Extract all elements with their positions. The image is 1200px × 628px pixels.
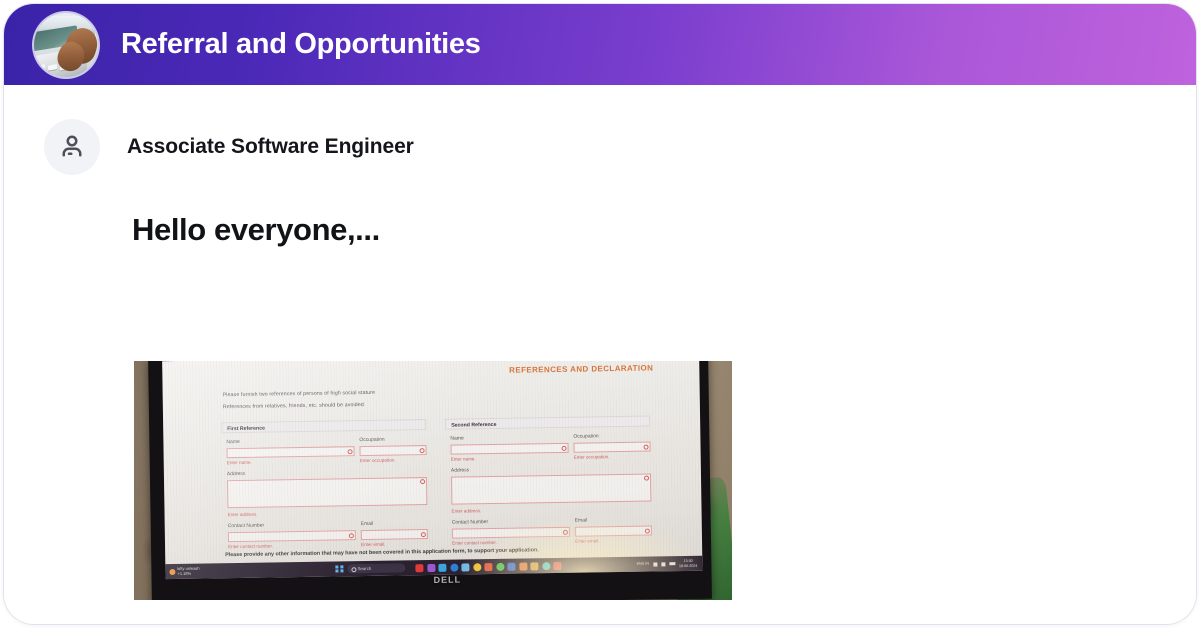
input-occupation-1[interactable]	[359, 445, 426, 456]
label-email-1: Email	[361, 521, 374, 527]
input-name-1[interactable]	[227, 446, 355, 458]
error-icon	[644, 476, 649, 481]
label-address-1: Address	[227, 471, 245, 477]
taskbar-app-icons[interactable]	[415, 561, 561, 571]
monitor-brand-logo: DELL	[434, 575, 462, 585]
error-address-2: Enter address.	[451, 508, 481, 513]
error-icon	[645, 528, 650, 533]
label-name-1: Name	[226, 439, 239, 445]
post-title: Hello everyone,...	[4, 212, 1196, 248]
app-icon[interactable]	[553, 561, 561, 569]
post-image[interactable]: REFERENCES AND DECLARATION Please furnis…	[134, 361, 732, 600]
form-heading: REFERENCES AND DECLARATION	[509, 363, 653, 374]
app-icon[interactable]	[542, 562, 550, 570]
input-email-1[interactable]	[361, 529, 428, 540]
app-icon[interactable]	[438, 563, 446, 571]
volume-icon	[661, 562, 665, 566]
windows-start-icon[interactable]	[335, 565, 343, 573]
monitor-screen: REFERENCES AND DECLARATION Please furnis…	[162, 361, 702, 579]
input-address-1[interactable]	[227, 477, 427, 508]
card-footer: ★ ◖ ★ 0 fish wl	[4, 620, 1196, 624]
app-icon[interactable]	[519, 562, 527, 570]
battery-icon	[669, 562, 675, 565]
input-address-2[interactable]	[451, 474, 651, 505]
error-icon	[562, 445, 567, 450]
input-name-2[interactable]	[450, 443, 568, 455]
input-occupation-2[interactable]	[573, 442, 650, 453]
error-icon	[348, 449, 353, 454]
form-document: REFERENCES AND DECLARATION Please furnis…	[162, 361, 702, 579]
app-icon[interactable]	[484, 563, 492, 571]
label-email-2: Email	[575, 518, 588, 524]
label-address-2: Address	[451, 467, 469, 473]
card-header: Referral and Opportunities	[4, 4, 1196, 85]
app-icon[interactable]	[507, 562, 515, 570]
author-name: Associate Software Engineer	[127, 135, 414, 159]
label-contact-2: Contact Number	[452, 519, 488, 526]
section-header-first-reference: First Reference	[221, 419, 426, 433]
form-instruction-1: Please furnish two references of persons…	[223, 390, 376, 398]
app-icon[interactable]	[473, 563, 481, 571]
post-card: Referral and Opportunities Associate Sof…	[4, 4, 1196, 624]
label-name-2: Name	[450, 435, 463, 441]
anonymous-person-icon	[57, 132, 87, 162]
group-avatar[interactable]	[34, 13, 98, 77]
error-occupation-1: Enter occupation.	[360, 458, 396, 464]
app-icon[interactable]	[427, 563, 435, 571]
card-body: Associate Software Engineer Hello everyo…	[4, 85, 1196, 624]
error-contact-1: Enter contact number.	[228, 543, 273, 549]
group-avatar-photo	[34, 13, 98, 77]
form-instruction-2: References from relatives, friends, etc.…	[223, 402, 364, 410]
error-email-2: Enter email.	[575, 538, 600, 543]
error-address-1: Enter address.	[228, 512, 258, 517]
error-email-1: Enter email.	[361, 542, 386, 547]
error-icon	[420, 479, 425, 484]
input-contact-2[interactable]	[452, 527, 570, 539]
avatar[interactable]	[44, 119, 100, 175]
clock-date[interactable]: 18-06-2024	[679, 563, 697, 567]
error-icon	[349, 533, 354, 538]
widget-sub: +1.18%	[177, 571, 199, 576]
input-email-2[interactable]	[575, 526, 652, 537]
error-icon	[563, 529, 568, 534]
taskbar-widget[interactable]: kitty unleash +1.18%	[169, 567, 199, 576]
author-row: Associate Software Engineer	[4, 119, 1196, 175]
monitor-bezel: REFERENCES AND DECLARATION Please furnis…	[148, 361, 712, 600]
app-icon[interactable]	[415, 564, 423, 572]
language-indicator[interactable]: ENG IN	[637, 562, 649, 566]
label-occupation-1: Occupation	[359, 437, 384, 443]
section-header-second-reference: Second Reference	[445, 416, 650, 430]
taskbar-system-tray[interactable]: ENG IN 13:30 18-06-2024	[637, 559, 698, 568]
error-icon	[421, 532, 426, 537]
error-icon	[420, 448, 425, 453]
error-contact-2: Enter contact number.	[452, 540, 497, 546]
error-occupation-2: Enter occupation.	[574, 454, 610, 460]
taskbar-search-input[interactable]: Search	[347, 563, 405, 573]
error-name-2: Enter name.	[451, 456, 476, 461]
page-title: Referral and Opportunities	[121, 28, 481, 61]
app-icon[interactable]	[496, 562, 504, 570]
app-icon[interactable]	[450, 563, 458, 571]
error-icon	[643, 444, 648, 449]
app-icon[interactable]	[530, 562, 538, 570]
form-footer-note: Please provide any other information tha…	[225, 547, 539, 558]
network-icon	[653, 562, 657, 566]
label-contact-1: Contact Number	[228, 523, 264, 530]
error-name-1: Enter name.	[227, 460, 252, 465]
input-contact-1[interactable]	[228, 530, 356, 542]
label-occupation-2: Occupation	[573, 433, 598, 439]
app-icon[interactable]	[461, 563, 469, 571]
